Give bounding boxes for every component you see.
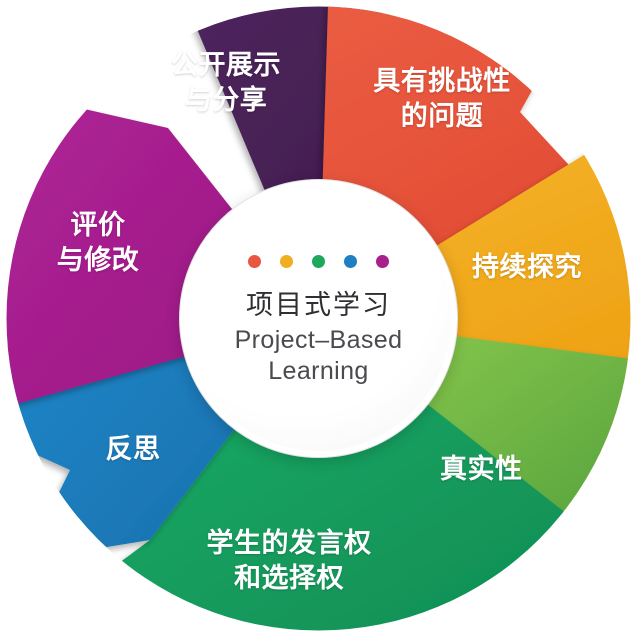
hub-title-en-line2: Learning [235, 356, 403, 387]
dot-blue-icon [344, 255, 357, 268]
dot-orange-icon [248, 255, 261, 268]
pbl-wheel-diagram: 公开展示 与分享 具有挑战性 的问题 持续探究 真实性 学生的发言权 和选择权 … [0, 0, 637, 637]
dot-amber-icon [280, 255, 293, 268]
dot-green-icon [312, 255, 325, 268]
hub-title-en: Project–Based Learning [235, 325, 403, 386]
color-dot-row [248, 255, 389, 268]
hub-title-cn: 项目式学习 [246, 290, 391, 321]
center-hub: 项目式学习 Project–Based Learning [179, 179, 458, 458]
dot-magenta-icon [376, 255, 389, 268]
hub-title-en-line1: Project–Based [235, 325, 403, 356]
